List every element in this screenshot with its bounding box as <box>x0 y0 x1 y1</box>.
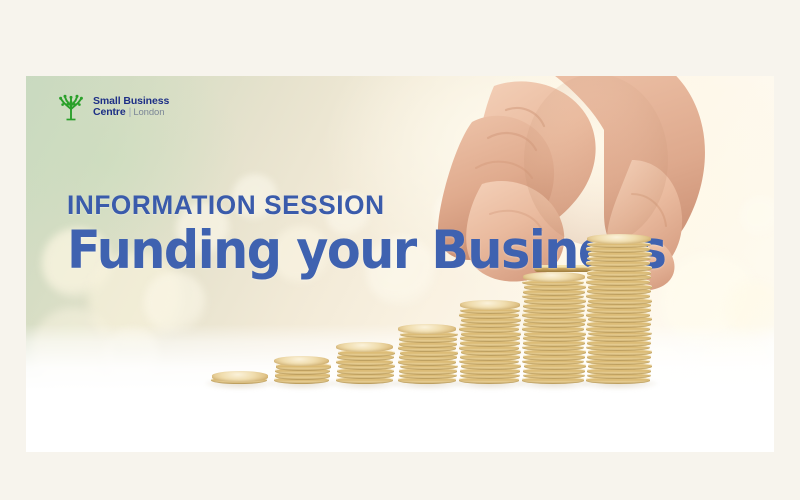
tree-icon <box>56 92 86 122</box>
logo-wordmark: Small Business Centre|London <box>93 96 169 118</box>
kicker-text: INFORMATION SESSION <box>67 192 691 219</box>
page-root: Small Business Centre|London INFORMATION… <box>0 0 800 500</box>
event-banner-image: Small Business Centre|London INFORMATION… <box>26 76 774 452</box>
small-business-centre-logo: Small Business Centre|London <box>56 92 169 122</box>
logo-city: London <box>133 107 164 118</box>
page-title: Funding your Business <box>67 224 666 278</box>
logo-centre-word: Centre <box>93 106 126 118</box>
table-surface <box>26 324 774 452</box>
headline-block: INFORMATION SESSION Funding your Busines… <box>67 192 711 278</box>
logo-divider: | <box>129 107 132 118</box>
logo-line-2: Centre|London <box>93 107 169 118</box>
